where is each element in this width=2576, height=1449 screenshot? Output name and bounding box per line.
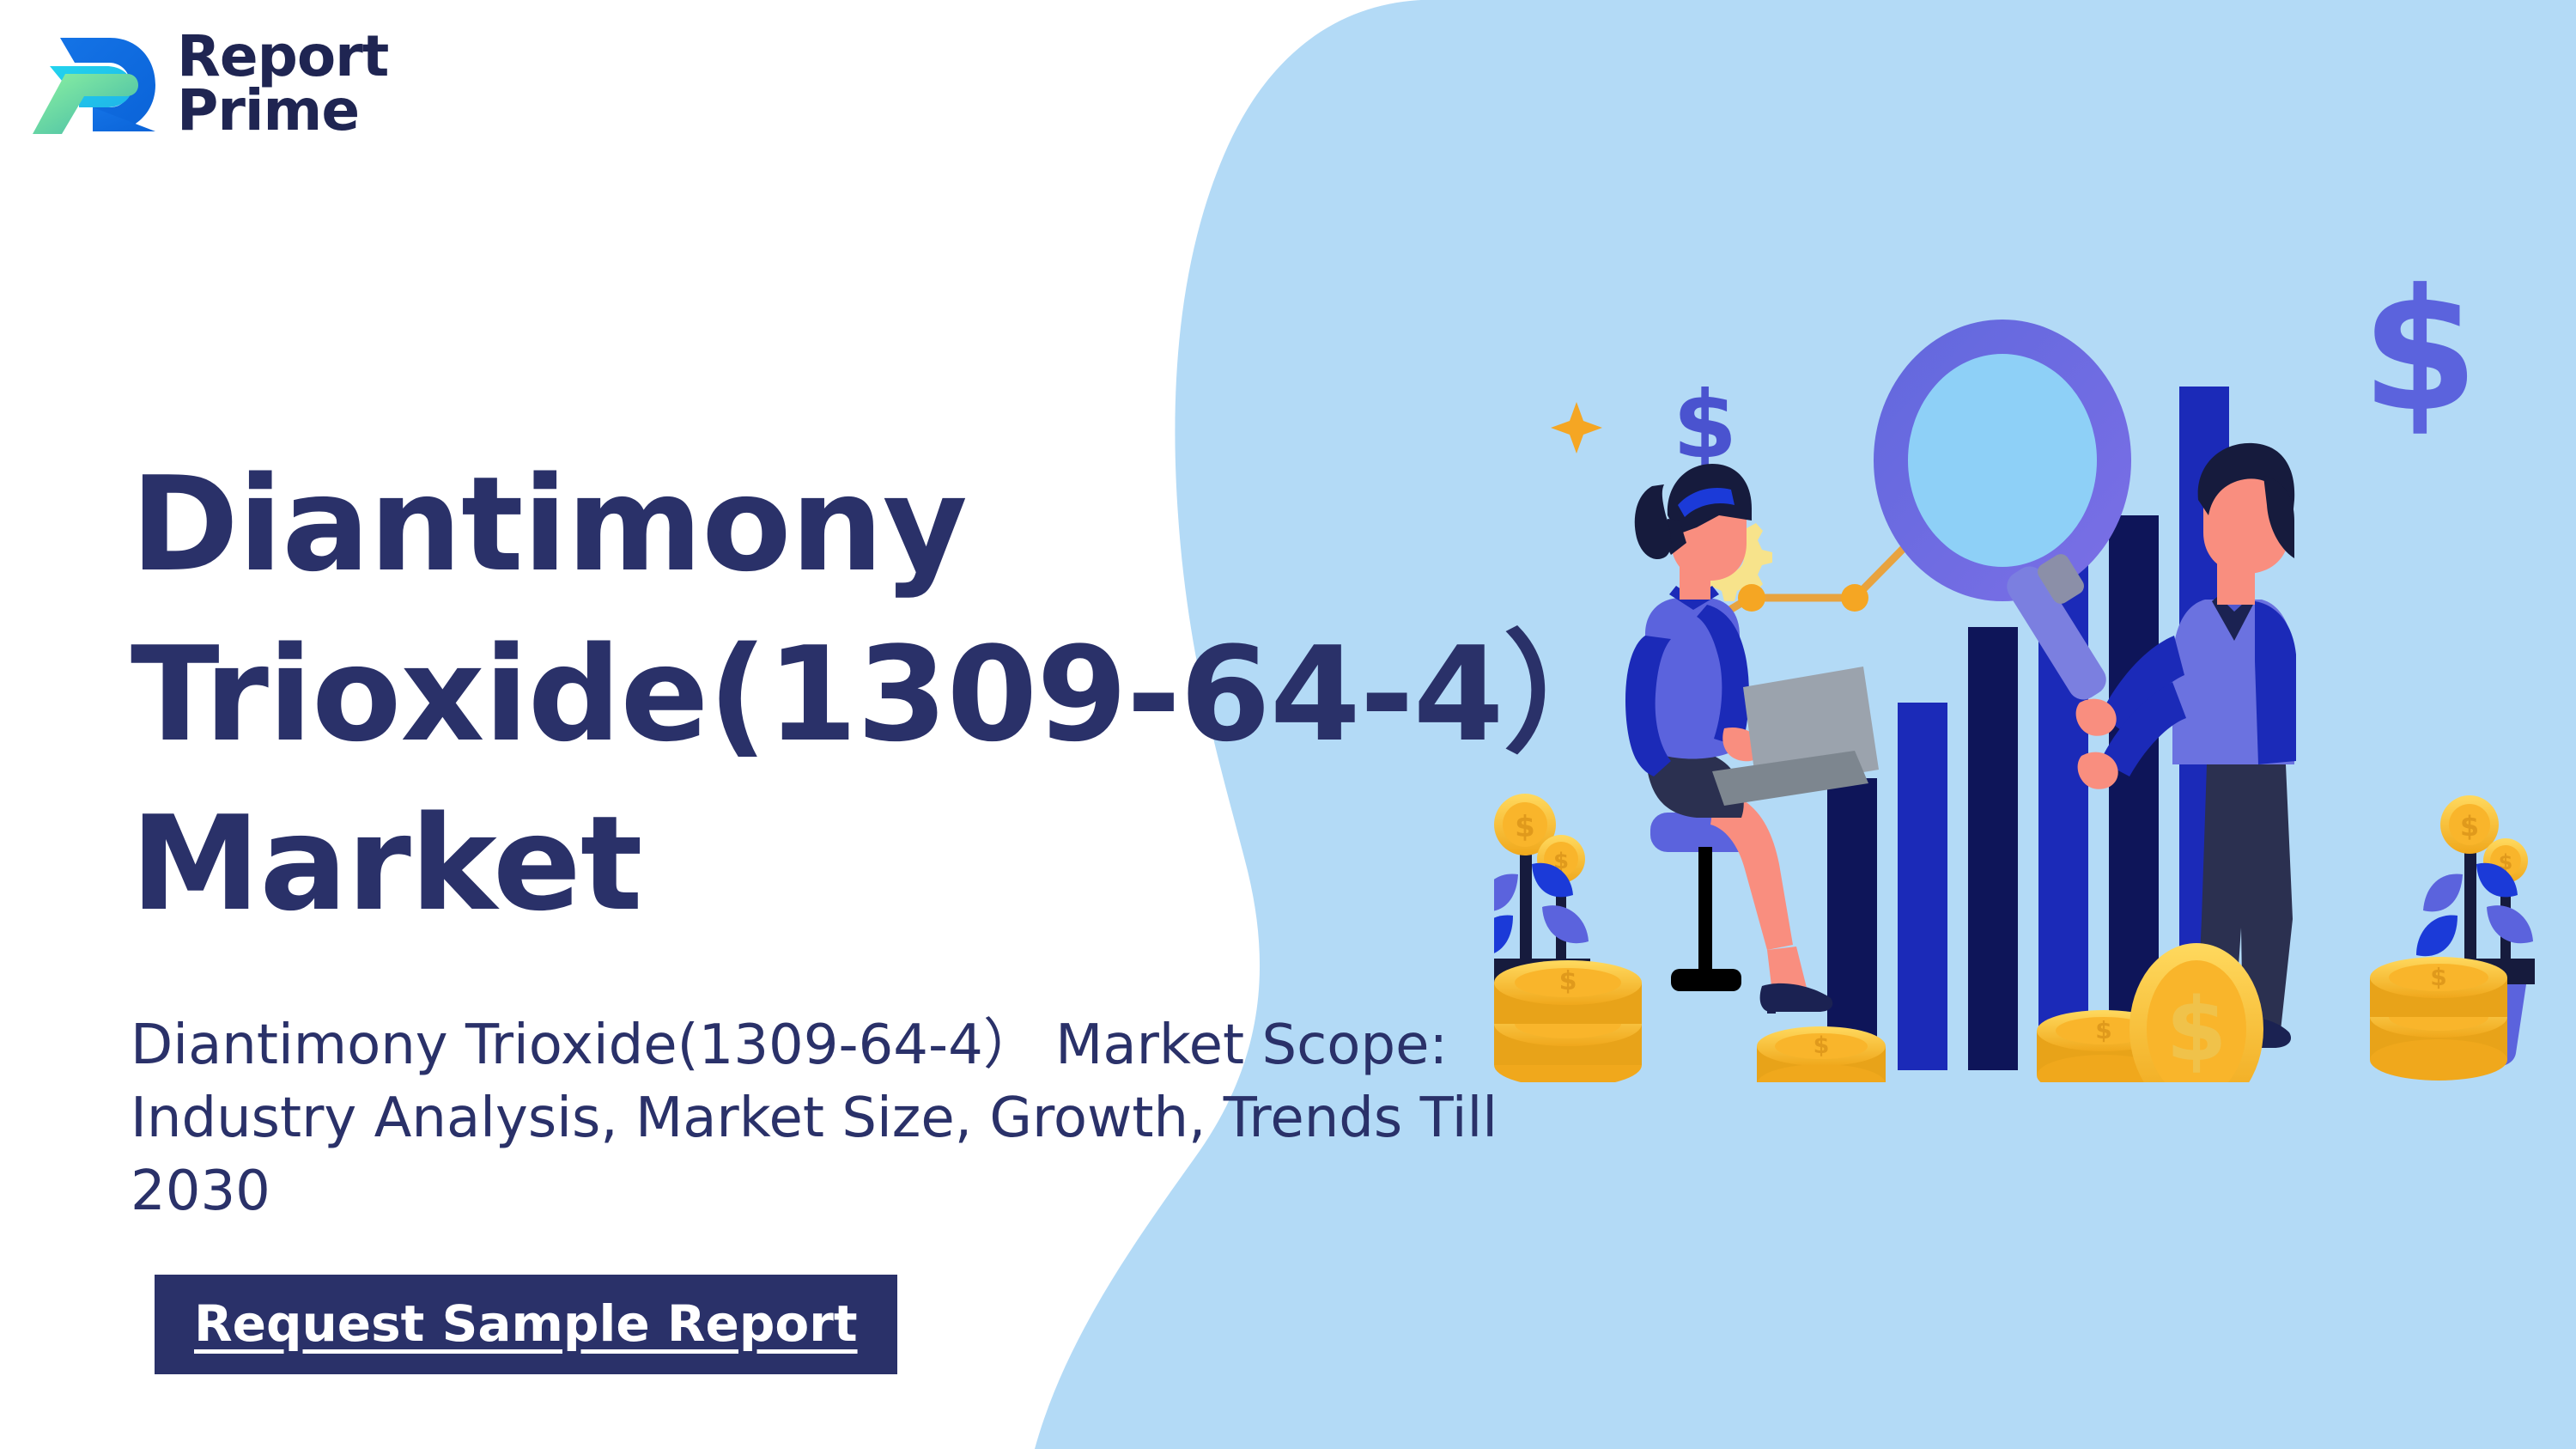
request-sample-report-button[interactable]: Request Sample Report	[155, 1275, 897, 1374]
market-research-illustration: $ $	[1494, 258, 2576, 1082]
svg-text:$: $	[2095, 1016, 2111, 1044]
svg-text:$: $	[2460, 810, 2479, 843]
svg-text:$: $	[1673, 372, 1737, 479]
svg-text:$: $	[1814, 1032, 1830, 1059]
bar-3	[1968, 627, 2018, 1070]
svg-text:$: $	[2166, 979, 2227, 1081]
brand-logo[interactable]: Report Prime	[27, 19, 388, 148]
report-prime-r-monogram-icon	[27, 19, 158, 148]
brand-name-line1: Report	[177, 29, 388, 83]
page-subtitle: Diantimony Trioxide(1309-64-4） Market Sc…	[131, 1009, 1522, 1228]
svg-text:$: $	[2361, 258, 2478, 449]
page-title: Diantimony Trioxide(1309-64-4） Market	[131, 440, 1642, 949]
bar-1	[1827, 778, 1877, 1070]
request-sample-report-label: Request Sample Report	[194, 1294, 858, 1353]
dollar-sign-large-icon: $	[2361, 258, 2478, 449]
svg-text:$: $	[2430, 963, 2446, 991]
svg-text:$: $	[1559, 966, 1577, 996]
coin-stack-2: $	[1757, 1026, 1886, 1082]
report-banner: Report Prime Diantimony Trioxide(1309-64…	[0, 0, 2576, 1449]
coin-stack-4: $	[2370, 957, 2507, 1081]
dollar-sign-icon: $	[1673, 372, 1737, 479]
brand-wordmark: Report Prime	[177, 29, 388, 138]
brand-name-line2: Prime	[177, 83, 388, 137]
bar-2	[1898, 703, 1947, 1070]
